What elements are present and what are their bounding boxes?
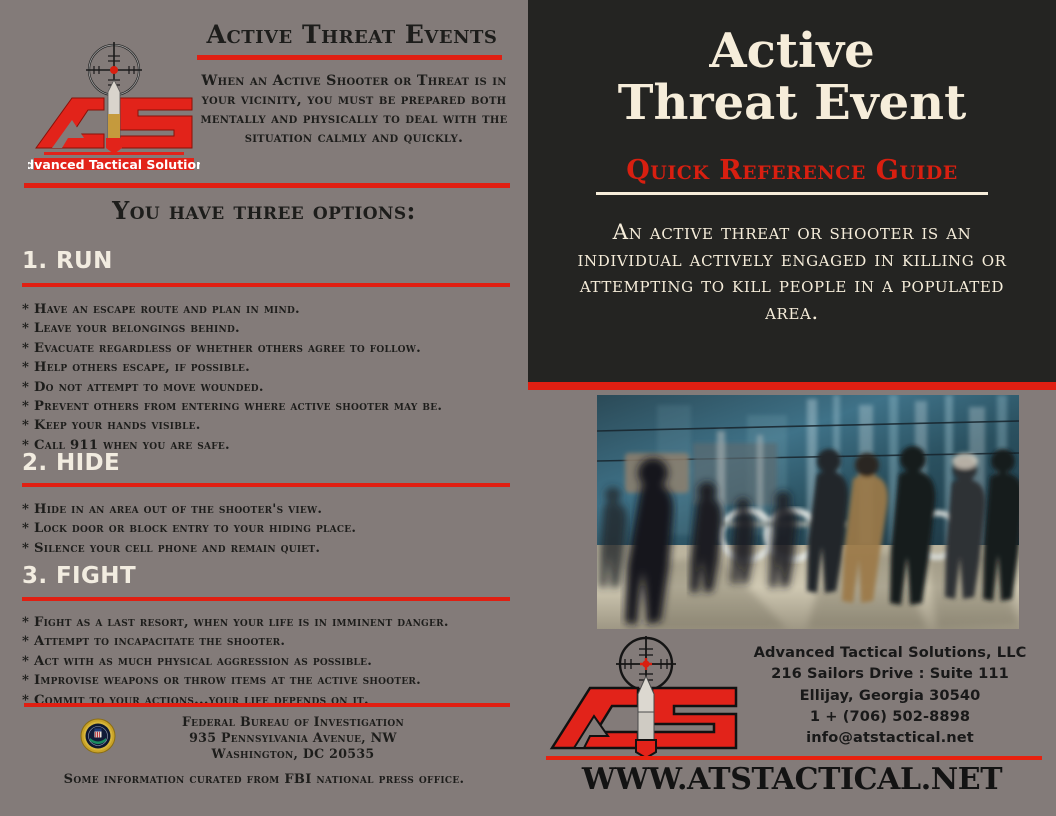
option-divider-fight	[22, 597, 510, 601]
options-title: You have three options:	[0, 196, 528, 225]
list-item: * Improvise weapons or throw items at th…	[22, 671, 522, 690]
email-address[interactable]: info@atstactical.net	[730, 727, 1050, 748]
right-panel: Active Threat Event Quick Reference Guid…	[528, 0, 1056, 816]
list-item: * Leave your belongings behind.	[22, 319, 522, 338]
fbi-street: 935 Pennsylvania Avenue, NW	[126, 730, 460, 746]
ats-logo: Advanced Tactical Solutions	[28, 42, 200, 170]
street-address: 216 Sailors Drive : Suite 111	[730, 663, 1050, 684]
list-item: * Silence your cell phone and remain qui…	[22, 539, 522, 558]
website-url[interactable]: WWW.ATSTACTICAL.NET	[528, 762, 1056, 797]
fbi-address: Federal Bureau of Investigation 935 Penn…	[126, 714, 460, 762]
hero-subtitle-divider	[596, 192, 988, 195]
fbi-name: Federal Bureau of Investigation	[126, 714, 460, 730]
title-divider	[197, 55, 502, 60]
list-item: * Do not attempt to move wounded.	[22, 378, 522, 397]
hero-subtitle: Quick Reference Guide	[528, 155, 1056, 186]
option-divider-run	[22, 283, 510, 287]
option-list-hide: * Hide in an area out of the shooter's v…	[22, 500, 522, 558]
contact-block: Advanced Tactical Solutions, LLC 216 Sai…	[730, 642, 1050, 748]
crowd-photo	[597, 395, 1019, 629]
list-item: * Evacuate regardless of whether others …	[22, 339, 522, 358]
company-name: Advanced Tactical Solutions, LLC	[730, 642, 1050, 663]
left-panel: Advanced Tactical Solutions Active Threa…	[0, 0, 528, 816]
hero-title-line1: Active	[528, 26, 1056, 78]
list-item: * Keep your hands visible.	[22, 416, 522, 435]
city-state-zip: Ellijay, Georgia 30540	[730, 685, 1050, 706]
fbi-divider	[24, 703, 510, 707]
option-heading-run: 1. RUN	[22, 248, 113, 274]
ats-logo-tagline: Advanced Tactical Solutions	[28, 157, 200, 170]
list-item: * Commit to your actions...your life dep…	[22, 691, 522, 710]
option-list-run: * Have an escape route and plan in mind.…	[22, 300, 522, 455]
option-heading-hide: 2. HIDE	[22, 450, 120, 476]
ats-logo-graphic: Advanced Tactical Solutions	[28, 42, 200, 170]
option-list-fight: * Fight as a last resort, when your life…	[22, 613, 522, 710]
list-item: * Attempt to incapacitate the shooter.	[22, 632, 522, 651]
website-divider	[546, 756, 1042, 760]
list-item: * Have an escape route and plan in mind.	[22, 300, 522, 319]
list-item: * Help others escape, if possible.	[22, 358, 522, 377]
list-item: * Hide in an area out of the shooter's v…	[22, 500, 522, 519]
page-title: Active Threat Events	[196, 22, 508, 47]
section-divider-top	[24, 183, 510, 188]
intro-paragraph: When an Active Shooter or Threat is in y…	[196, 72, 512, 148]
fbi-block: Federal Bureau of Investigation 935 Penn…	[80, 714, 460, 762]
list-item: * Act with as much physical aggression a…	[22, 652, 522, 671]
brochure-page: Advanced Tactical Solutions Active Threa…	[0, 0, 1056, 816]
hero-red-band	[528, 382, 1056, 390]
list-item: * Lock door or block entry to your hidin…	[22, 519, 522, 538]
option-divider-hide	[22, 483, 510, 487]
fbi-city: Washington, DC 20535	[126, 746, 460, 762]
list-item: * Fight as a last resort, when your life…	[22, 613, 522, 632]
fbi-source-note: Some information curated from FBI nation…	[0, 772, 528, 787]
fbi-seal-icon	[80, 718, 116, 758]
hero-title-line2: Threat Event	[528, 78, 1056, 130]
list-item: * Prevent others from entering where act…	[22, 397, 522, 416]
definition-text: An active threat or shooter is an indivi…	[558, 220, 1026, 327]
phone-number[interactable]: 1 + (706) 502-8898	[730, 706, 1050, 727]
ats-logo-large	[546, 636, 746, 760]
hero-title: Active Threat Event	[528, 26, 1056, 130]
option-heading-fight: 3. FIGHT	[22, 563, 136, 589]
ats-logo-large-graphic	[546, 636, 746, 760]
